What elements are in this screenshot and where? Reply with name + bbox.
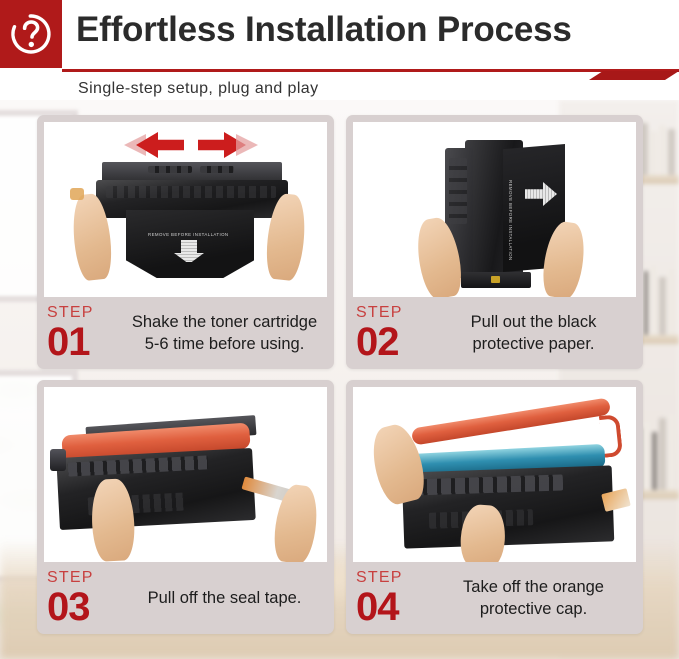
- step-label-block-02: STEP 02: [356, 305, 434, 362]
- infographic-page: Effortless Installation Process Single-s…: [0, 0, 679, 659]
- step-text-line2: protective cap.: [434, 598, 633, 620]
- step-caption-02: STEP 02 Pull out the black protective pa…: [346, 297, 643, 369]
- step-number: 02: [356, 322, 434, 362]
- step-label-block-03: STEP 03: [47, 570, 125, 627]
- divider-line: [62, 69, 679, 72]
- step-text-line1: Shake the toner cartridge: [125, 311, 324, 333]
- orange-protective-cap: [411, 397, 611, 445]
- step-word: STEP: [356, 570, 434, 586]
- step-text-line2: protective paper.: [434, 333, 633, 355]
- step-caption-04: STEP 04 Take off the orange protective c…: [346, 562, 643, 634]
- step-card-02: REMOVE BEFORE INSTALLATION STEP 02 Pull …: [346, 115, 643, 369]
- step-label-block-01: STEP 01: [47, 305, 125, 362]
- step-word: STEP: [47, 305, 125, 321]
- step-description-04: Take off the orange protective cap.: [434, 576, 637, 621]
- step-description-02: Pull out the black protective paper.: [434, 311, 637, 356]
- step-number: 04: [356, 587, 434, 627]
- step-label-block-04: STEP 04: [356, 570, 434, 627]
- page-subtitle: Single-step setup, plug and play: [78, 80, 319, 98]
- step-text-line1: Take off the orange: [434, 576, 633, 598]
- step-photo-03: [44, 387, 327, 562]
- step-number: 03: [47, 587, 125, 627]
- step-text-line1: Pull off the seal tape.: [125, 587, 324, 609]
- step-card-01: REMOVE BEFORE INSTALLATION STEP 01 Shake…: [37, 115, 334, 369]
- step-text-line1: Pull out the black: [434, 311, 633, 333]
- step-card-04: STEP 04 Take off the orange protective c…: [346, 380, 643, 634]
- steps-grid: REMOVE BEFORE INSTALLATION STEP 01 Shake…: [0, 106, 679, 659]
- step-description-01: Shake the toner cartridge 5-6 time befor…: [125, 311, 328, 356]
- step-card-03: STEP 03 Pull off the seal tape.: [37, 380, 334, 634]
- step-description-03: Pull off the seal tape.: [125, 587, 328, 609]
- step-number: 01: [47, 322, 125, 362]
- header: Effortless Installation Process Single-s…: [0, 0, 679, 100]
- page-title: Effortless Installation Process: [76, 10, 572, 50]
- step-word: STEP: [47, 570, 125, 586]
- step-word: STEP: [356, 305, 434, 321]
- step-photo-04: [353, 387, 636, 562]
- shake-arrows-icon: [136, 132, 246, 158]
- step-photo-01: REMOVE BEFORE INSTALLATION: [44, 122, 327, 297]
- step-photo-02: REMOVE BEFORE INSTALLATION: [353, 122, 636, 297]
- step-text-line2: 5-6 time before using.: [125, 333, 324, 355]
- divider-accent: [589, 71, 679, 80]
- step-caption-01: STEP 01 Shake the toner cartridge 5-6 ti…: [37, 297, 334, 369]
- step-caption-03: STEP 03 Pull off the seal tape.: [37, 562, 334, 634]
- question-mark-circle-icon: [0, 0, 62, 68]
